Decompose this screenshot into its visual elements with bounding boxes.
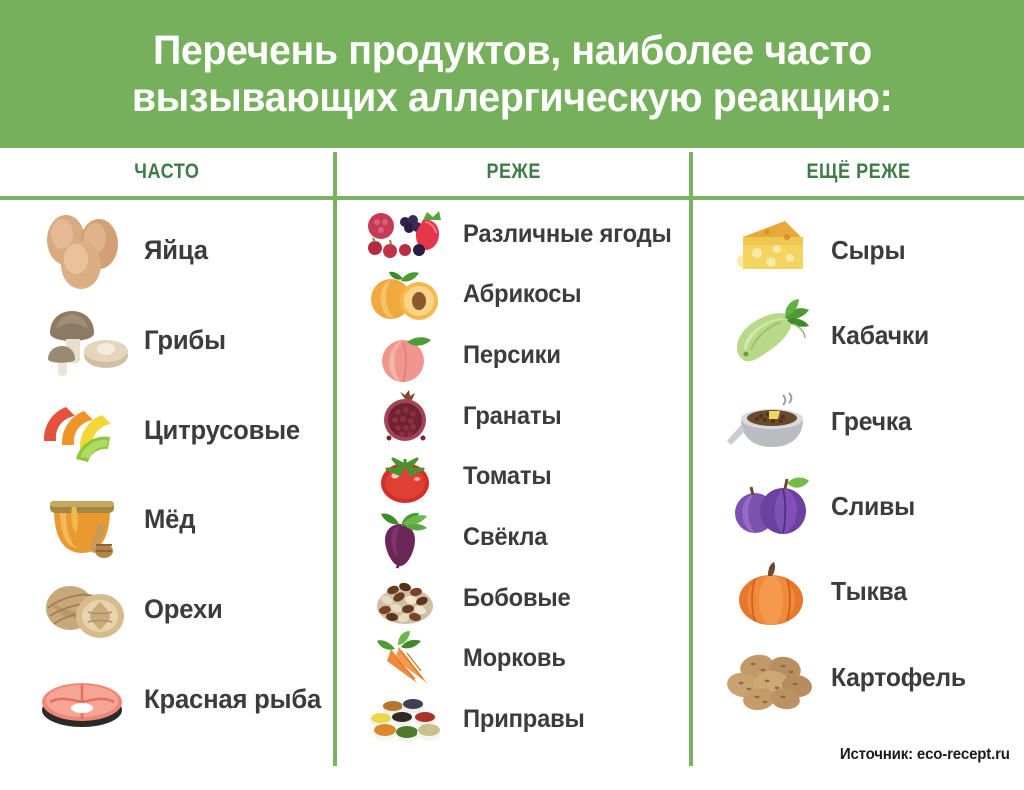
pumpkin-icon — [723, 554, 819, 630]
list-item-label: Приправы — [463, 705, 585, 734]
list-item-label: Тыква — [831, 576, 907, 607]
list-item: Картофель — [693, 639, 1024, 715]
beetroot-icon — [365, 510, 449, 566]
zucchini-icon — [723, 298, 819, 374]
column-header-rarely-label: ЕЩЁ РЕЖЕ — [807, 160, 911, 184]
list-item-label: Цитрусовые — [144, 415, 300, 446]
column-header-often-label: ЧАСТО — [134, 160, 199, 184]
tomato-icon — [365, 449, 449, 505]
list-item: Сливы — [693, 469, 1024, 545]
honey-pot-icon — [36, 479, 132, 561]
column-rarely: Сыры Кабачки — [693, 200, 1024, 756]
list-item-label: Гречка — [831, 406, 912, 437]
list-item-label: Картофель — [831, 662, 966, 693]
page-title-line-1: Перечень продуктов, наиболее часто — [153, 27, 872, 74]
list-item: Приправы — [337, 692, 689, 748]
list-item-label: Орехи — [144, 594, 223, 625]
list-item: Морковь — [337, 631, 689, 687]
list-item-label: Мёд — [144, 504, 195, 535]
list-item: Тыква — [693, 554, 1024, 630]
walnuts-icon — [36, 568, 132, 650]
list-item-label: Грибы — [144, 325, 226, 356]
list-item: Сыры — [693, 213, 1024, 289]
list-item-label: Сыры — [831, 235, 905, 266]
list-item-label: Кабачки — [831, 320, 929, 351]
list-item: Различные ягоды — [337, 206, 689, 262]
list-item: Яйца — [0, 210, 333, 292]
column-header-less-often-label: РЕЖЕ — [487, 160, 542, 184]
list-item: Бобовые — [337, 570, 689, 626]
list-item: Кабачки — [693, 298, 1024, 374]
apricots-icon — [365, 267, 449, 323]
pomegranate-icon — [365, 388, 449, 444]
citrus-icon — [36, 389, 132, 471]
carrots-icon — [365, 631, 449, 687]
cheese-icon — [723, 213, 819, 289]
page-title-line-2: вызывающих аллергическую реакцию: — [132, 74, 893, 121]
list-item: Грибы — [0, 299, 333, 381]
potatoes-icon — [723, 639, 819, 715]
list-item: Красная рыба — [0, 658, 333, 740]
infographic-poster: Перечень продуктов, наиболее часто вызыв… — [0, 0, 1024, 790]
column-header-rarely: ЕЩЁ РЕЖЕ — [694, 148, 1024, 196]
list-item-label: Яйца — [144, 235, 208, 266]
mushrooms-icon — [36, 299, 132, 381]
column-header-often: ЧАСТО — [0, 148, 334, 196]
title-banner: Перечень продуктов, наиболее часто вызыв… — [0, 0, 1024, 148]
list-item-label: Гранаты — [463, 402, 561, 431]
berries-icon — [365, 206, 449, 262]
list-item: Гречка — [693, 383, 1024, 459]
list-item-label: Персики — [463, 341, 561, 370]
beans-icon — [365, 570, 449, 626]
list-item: Орехи — [0, 568, 333, 650]
list-item: Томаты — [337, 449, 689, 505]
spices-icon — [365, 692, 449, 748]
list-item-label: Бобовые — [463, 584, 571, 613]
list-item-label: Красная рыба — [144, 684, 321, 715]
list-item-label: Абрикосы — [463, 280, 581, 309]
list-item: Свёкла — [337, 510, 689, 566]
eggs-icon — [36, 210, 132, 292]
plums-icon — [723, 469, 819, 545]
red-fish-steak-icon — [36, 658, 132, 740]
list-item: Мёд — [0, 479, 333, 561]
list-item: Абрикосы — [337, 267, 689, 323]
peach-icon — [365, 328, 449, 384]
column-header-less-often: РЕЖЕ — [338, 148, 690, 196]
list-item: Гранаты — [337, 388, 689, 444]
list-item-label: Томаты — [463, 462, 551, 491]
buckwheat-pan-icon — [723, 383, 819, 459]
column-less-often: Различные ягоды Абрикосы — [337, 200, 689, 756]
column-often: Яйца Грибы — [0, 200, 333, 756]
source-attribution: Источник: eco-recept.ru — [840, 746, 1010, 764]
list-item-label: Морковь — [463, 644, 566, 673]
list-item-label: Сливы — [831, 491, 915, 522]
list-item-label: Различные ягоды — [463, 220, 672, 249]
list-item: Персики — [337, 328, 689, 384]
list-item-label: Свёкла — [463, 523, 547, 552]
list-item: Цитрусовые — [0, 389, 333, 471]
